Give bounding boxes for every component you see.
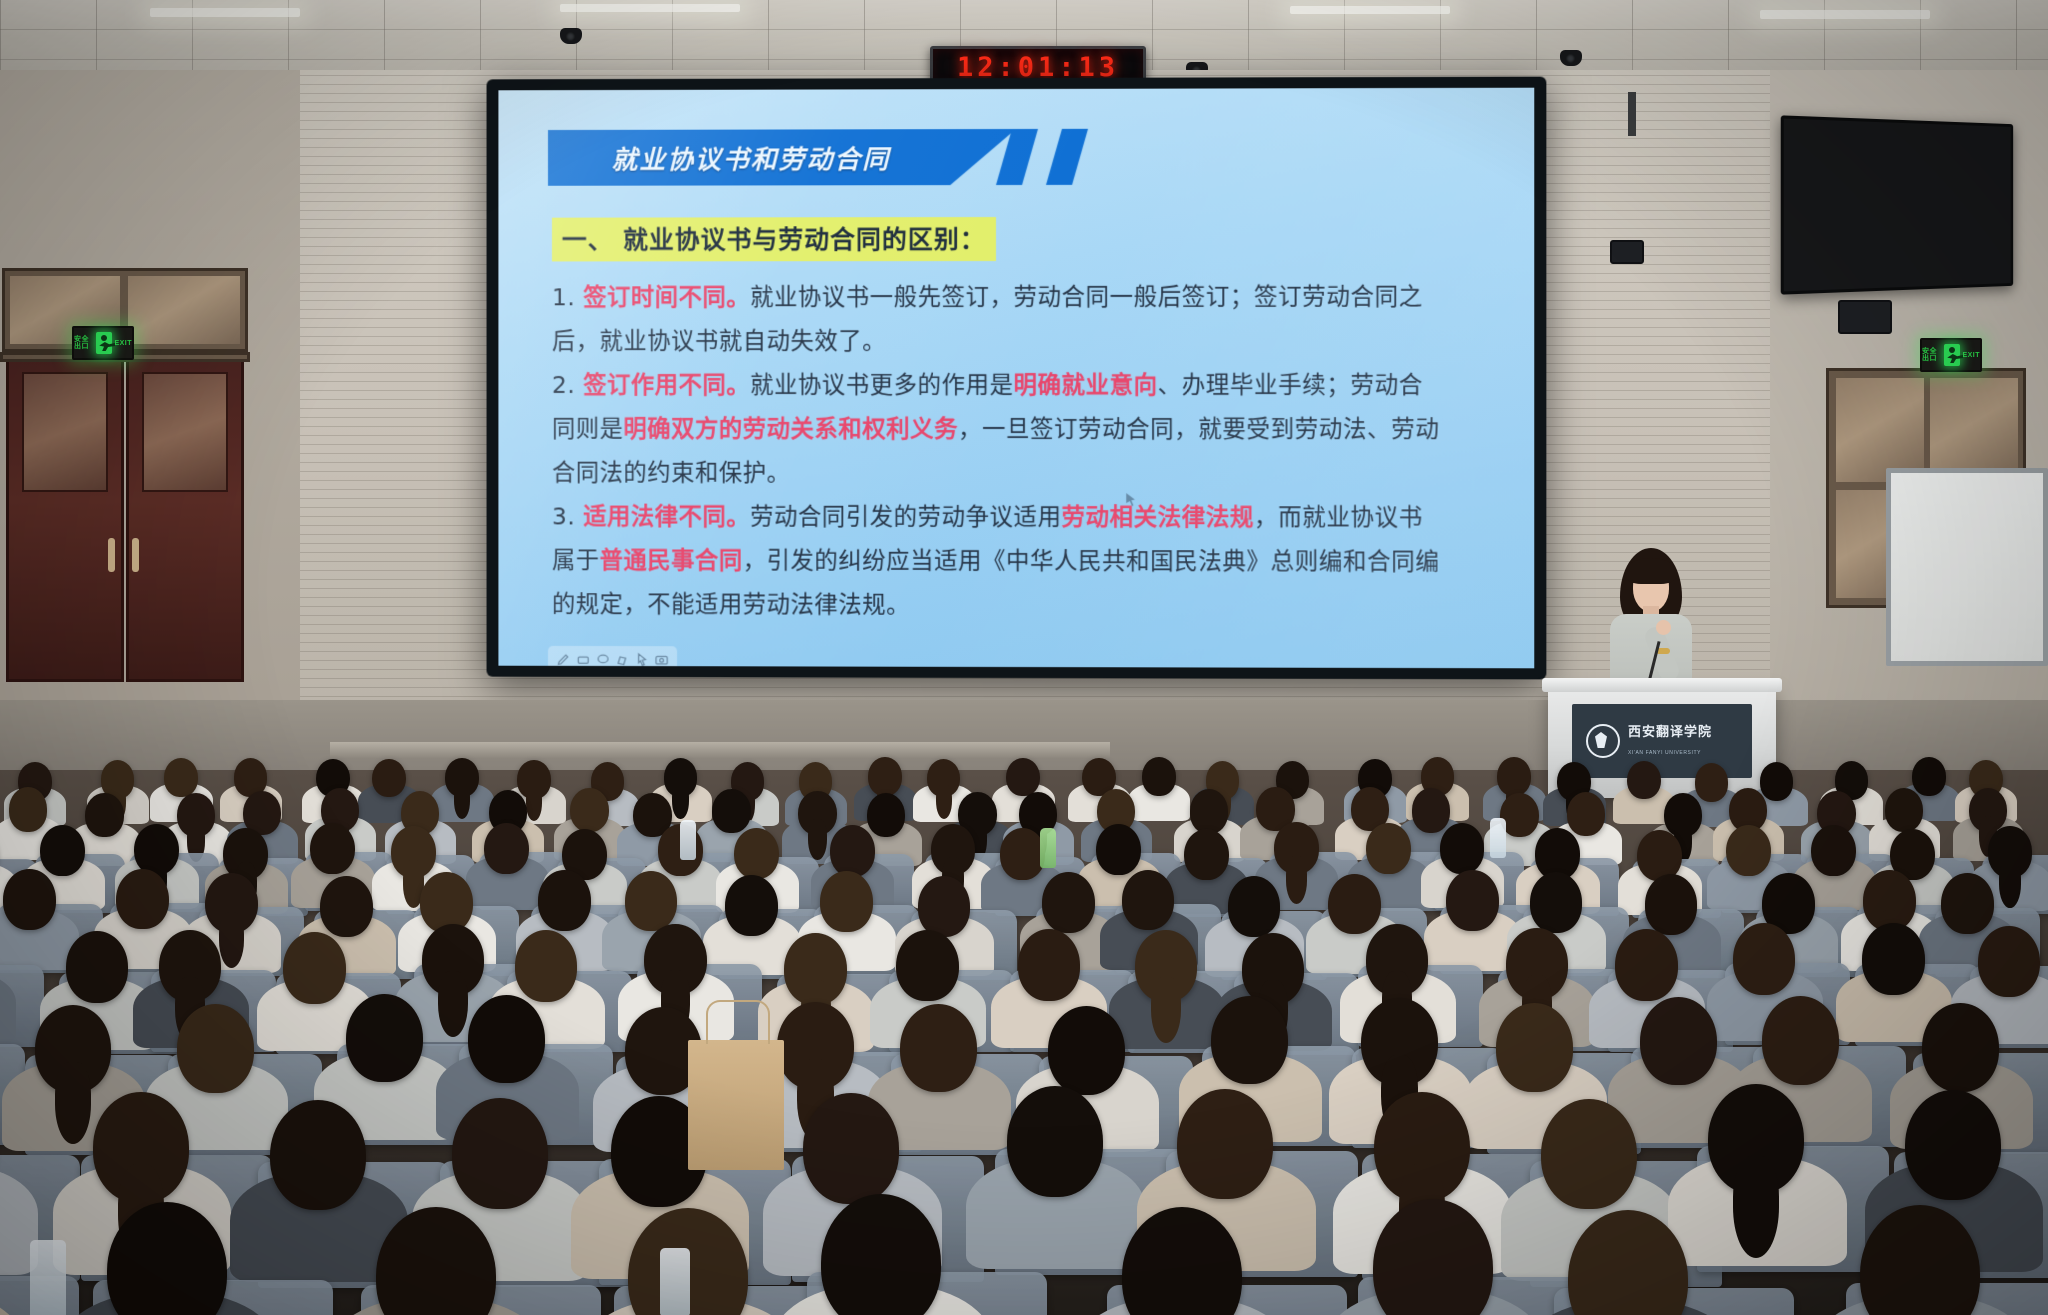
lasso-icon[interactable] [595, 651, 610, 666]
window-pane [128, 276, 240, 344]
audience-member-head [1440, 823, 1485, 875]
audience-member-ponytail [1733, 1156, 1779, 1258]
ceiling-light [560, 4, 740, 12]
audience-member-head [1726, 825, 1771, 877]
ceiling-camera-icon [1560, 50, 1582, 66]
eraser-icon[interactable] [576, 651, 591, 666]
body-text-run: ，引发的纠纷应当适用《中华人民共和国民法典》总则编和合同编 [743, 547, 1440, 576]
audience-member-head [164, 758, 198, 797]
projection-screen: 就业协议书和劳动合同 一、 就业协议书与劳动合同的区别： 1. 签订时间不同。就… [487, 77, 1547, 680]
water-bottle [680, 820, 696, 860]
audience-member-head [1446, 870, 1499, 931]
audience-member-head [867, 793, 905, 837]
paper-bag-handle [706, 1000, 770, 1044]
wall-speaker [1838, 300, 1892, 334]
audience-member-head [310, 823, 355, 875]
left-door-handle[interactable] [108, 538, 115, 572]
emphasis-text: 劳动相关法律法规 [1061, 503, 1253, 531]
lectern-nameplate: 西安翻译学院 XI'AN FANYI UNIVERSITY [1572, 704, 1752, 778]
audience-member-head [820, 871, 873, 932]
window-pane [1930, 378, 2018, 482]
audience-member-head [734, 828, 779, 880]
body-text-run: ，一旦签订劳动合同，就要受到劳动法、劳动 [958, 415, 1439, 443]
audience-member-head [1941, 873, 1994, 934]
whiteboard [1886, 468, 2048, 666]
audience-member-head [468, 995, 545, 1083]
lectern-top [1542, 678, 1782, 692]
audience-member-head [177, 1004, 254, 1092]
audience-member-head [1541, 1099, 1637, 1209]
audience-member-head [896, 930, 958, 1002]
audience-member-ponytail [1286, 856, 1308, 904]
slide-body: 1. 签订时间不同。就业协议书一般先签订，劳动合同一般后签订；签订劳动合同之后，… [552, 275, 1484, 628]
audience-member-head [1211, 996, 1288, 1084]
audience-member-head [1885, 788, 1923, 832]
body-text-run: 劳动合同引发的劳动争议适用 [750, 503, 1061, 531]
lecture-hall-photo: 12:01:13 安全出口 EXIT 安全出口 EXIT 就业协议书和劳动合同 … [0, 0, 2048, 1315]
audience-member-head [1615, 929, 1677, 1001]
audience-member-head [1366, 823, 1411, 875]
body-text-run: 合同法的约束和保护。 [552, 459, 791, 487]
audience-member-head [625, 871, 678, 932]
audience-member-head [712, 789, 750, 833]
audience-member-head [1640, 997, 1717, 1085]
audience-member-ponytail [438, 971, 468, 1037]
emphasis-text: 签订作用不同。 [583, 371, 750, 399]
emphasis-text: 明确就业意向 [1013, 371, 1157, 399]
audience-member-head [1695, 763, 1729, 802]
institution-name: 西安翻译学院 [1628, 724, 1712, 739]
emphasis-text: 明确双方的劳动关系和权利义务 [623, 415, 958, 443]
annotation-toolbar[interactable] [548, 646, 677, 668]
university-seal-icon [1586, 724, 1620, 758]
body-text-run: 同则是 [552, 415, 623, 443]
water-bottle [1490, 818, 1506, 858]
audience-member-head [1645, 874, 1698, 935]
presenter-fringe [1626, 558, 1676, 584]
audience-member-head [1762, 996, 1839, 1084]
audience-member-head [1733, 923, 1795, 995]
left-door-handle[interactable] [132, 538, 139, 572]
audience-member-head [1627, 761, 1661, 800]
slide-line: 合同法的约束和保护。 [552, 451, 1484, 496]
audience-member-head [1811, 825, 1856, 877]
audience-member-head [3, 869, 56, 930]
audience-member-head [320, 876, 373, 937]
title-chevron-decor [1046, 129, 1088, 185]
exit-sign-chinese-label: 安全出口 [74, 336, 94, 350]
audience-member-ponytail [936, 784, 952, 820]
audience-member-head [1184, 829, 1229, 881]
emphasis-text: 签订时间不同。 [583, 283, 750, 311]
audience-member-head [372, 759, 406, 798]
audience-member-head [1530, 872, 1583, 933]
audience-member-head [1328, 874, 1381, 935]
ceiling-light [1760, 10, 1930, 19]
audience-member-ponytail [1999, 860, 2021, 908]
ceiling-light [150, 8, 300, 17]
audience-member-head [1048, 1006, 1125, 1094]
exit-sign-english-label: EXIT [1962, 352, 1980, 359]
body-text-run: 的规定，不能适用劳动法律法规。 [552, 590, 910, 619]
pointer-icon[interactable] [634, 652, 649, 667]
audience-member-head [40, 825, 85, 877]
body-text-run: 、办理毕业手续；劳动合 [1158, 371, 1423, 399]
audience-member-head [1922, 1003, 1999, 1091]
emphasis-text: 适用法律不同。 [583, 503, 750, 531]
audience-member-head [1000, 828, 1045, 880]
body-text-run: 就业协议书更多的作用是 [750, 371, 1013, 399]
slide-line: 1. 签订时间不同。就业协议书一般先签订，劳动合同一般后签订；签订劳动合同之 [552, 275, 1484, 320]
ceiling-light [1290, 6, 1450, 14]
slide-surface: 就业协议书和劳动合同 一、 就业协议书与劳动合同的区别： 1. 签订时间不同。就… [498, 88, 1534, 669]
audience-member-head [1006, 758, 1040, 797]
audience-member-ponytail [808, 819, 826, 860]
wall-mounted-display [1781, 115, 2013, 294]
running-person-icon [1944, 344, 1960, 366]
audience-member-head [283, 932, 345, 1004]
slide-line: 2. 签订作用不同。就业协议书更多的作用是明确就业意向、办理毕业手续；劳动合 [552, 363, 1484, 407]
slide-title-banner: 就业协议书和劳动合同 [548, 129, 1016, 186]
paper-bag [688, 1040, 784, 1170]
audience-member-head [484, 823, 529, 875]
audience-member-head [1496, 1003, 1573, 1091]
audience-member-head [1042, 872, 1095, 933]
pen-icon[interactable] [556, 651, 571, 666]
list-number: 3. [552, 502, 583, 530]
slide-line: 同则是明确双方的劳动关系和权利义务，一旦签订劳动合同，就要受到劳动法、劳动 [552, 407, 1484, 451]
mouse-cursor-icon [1126, 493, 1135, 506]
audience-member-head [1912, 757, 1946, 796]
slide-title: 就业协议书和劳动合同 [611, 139, 890, 176]
audience-member-head [9, 787, 47, 831]
left-door-window [22, 372, 108, 492]
audience-member-head [830, 825, 875, 877]
highlighter-icon[interactable] [615, 652, 630, 667]
audience-member-head [1567, 792, 1605, 836]
ceiling-camera-icon [560, 28, 582, 44]
audience-member-head [570, 788, 608, 832]
exit-sign-english-label: EXIT [114, 340, 132, 347]
slide-line: 后，就业协议书就自动失效了。 [552, 319, 1484, 363]
list-number: 2. [552, 371, 583, 399]
audience-member-head [1007, 1086, 1103, 1196]
window-pane [1836, 378, 1924, 482]
audience-member-head [1760, 762, 1794, 801]
audience-member-head [803, 1093, 899, 1203]
body-text-run: 后，就业协议书就自动失效了。 [552, 327, 886, 355]
screenshot-icon[interactable] [654, 652, 669, 667]
audience-member-ponytail [672, 783, 688, 819]
slide-line: 的规定，不能适用劳动法律法规。 [552, 582, 1484, 628]
tv-mount-arm [1628, 92, 1636, 136]
body-text-run: ，而就业协议书 [1254, 503, 1423, 531]
audience-member-head [66, 931, 128, 1003]
slide-line: 3. 适用法律不同。劳动合同引发的劳动争议适用劳动相关法律法规，而就业协议书 [552, 495, 1484, 540]
audience-member-head [1978, 926, 2040, 998]
audience-member-head [1412, 788, 1450, 832]
wall-speaker [1610, 240, 1644, 264]
audience-member-head [1142, 757, 1176, 796]
audience-member-head [538, 870, 591, 931]
water-bottle [30, 1240, 66, 1315]
audience-member-head [1500, 793, 1538, 837]
audience-member-head [85, 793, 123, 837]
slide-heading: 一、 就业协议书与劳动合同的区别： [552, 217, 996, 261]
audience-member-head [1862, 923, 1924, 995]
exit-sign-left: 安全出口 EXIT [72, 326, 134, 360]
body-text-run: 就业协议书一般先签订，劳动合同一般后签订；签订劳动合同之 [750, 283, 1423, 311]
audience-member-head [1905, 1090, 2001, 1200]
audience-member-head [1018, 929, 1080, 1001]
running-person-icon [96, 332, 112, 354]
list-number: 1. [552, 283, 583, 311]
audience-member-head [515, 930, 577, 1002]
presenter-hand [1656, 620, 1671, 635]
audience-member-head [1096, 824, 1141, 876]
audience-member-ponytail [55, 1062, 92, 1144]
body-text-run: 属于 [552, 546, 600, 574]
audience-member-head [1122, 870, 1175, 931]
stage-step-edge [330, 742, 1110, 758]
audience-member-head [725, 875, 778, 936]
audience-member-head [452, 1098, 548, 1208]
slide-line: 属于普通民事合同，引发的纠纷应当适用《中华人民共和国民法典》总则编和合同编 [552, 538, 1484, 583]
left-door-window [142, 372, 228, 492]
audience-member-head [900, 1004, 977, 1092]
drink-bottle [1040, 828, 1056, 868]
institution-subtext: XI'AN FANYI UNIVERSITY [1628, 750, 1701, 756]
audience-member-head [116, 869, 169, 930]
water-bottle [660, 1248, 690, 1315]
emphasis-text: 普通民事合同 [600, 546, 743, 574]
audience-member-head [918, 876, 971, 937]
audience-member-head [1190, 789, 1228, 833]
exit-sign-chinese-label: 安全出口 [1922, 348, 1942, 362]
audience-member-head [1177, 1089, 1273, 1199]
audience-member-head [1228, 876, 1281, 937]
audience-member-head [346, 994, 423, 1082]
exit-sign-right: 安全出口 EXIT [1920, 338, 1982, 372]
audience-member-head [270, 1100, 366, 1210]
